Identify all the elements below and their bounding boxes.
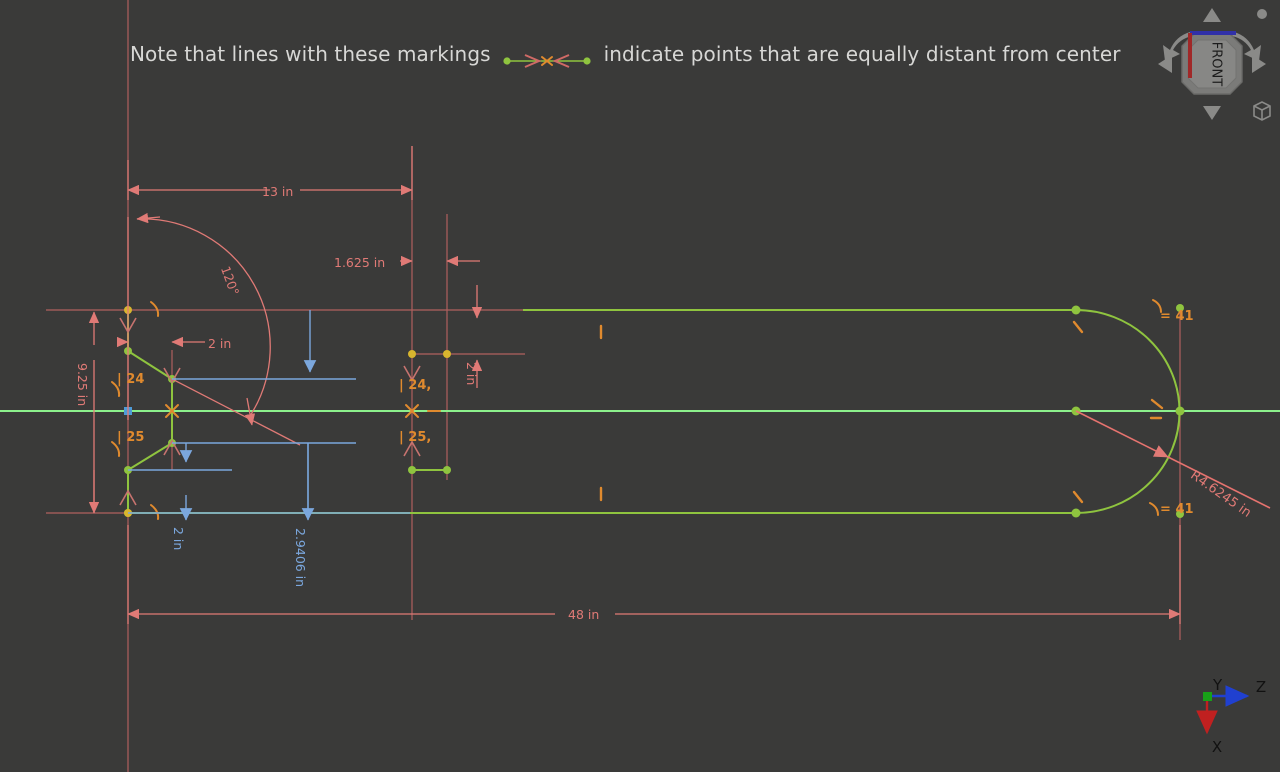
note-text-after: indicate points that are equally distant…: [604, 42, 1121, 66]
dimension-48in[interactable]: [128, 525, 1180, 624]
dimension-13in[interactable]: [128, 146, 412, 200]
construction-lines: [46, 0, 1180, 772]
note-banner: Note that lines with these markings indi…: [130, 42, 1121, 66]
note-text-before: Note that lines with these markings: [130, 42, 491, 66]
nav-up-arrow: [1203, 8, 1221, 22]
cube-face-label: FRONT: [1209, 42, 1224, 86]
view-cube[interactable]: FRONT: [1150, 2, 1274, 126]
nav-mini-cube-icon: [1254, 102, 1270, 120]
axis-label-z: Z: [1256, 678, 1266, 696]
axis-label-x: X: [1212, 738, 1222, 756]
axis-triad: Y Z X: [1185, 672, 1280, 764]
dimension-blue-group[interactable]: [128, 310, 410, 520]
nav-home-dot: [1257, 9, 1267, 19]
sketch-canvas[interactable]: [0, 0, 1280, 772]
dimension-radius[interactable]: [1076, 411, 1270, 508]
axis-label-y: Y: [1212, 676, 1223, 694]
cad-viewport[interactable]: Note that lines with these markings indi…: [0, 0, 1280, 772]
symmetry-constraint-symbol: [501, 49, 593, 63]
nav-down-arrow: [1203, 106, 1221, 120]
